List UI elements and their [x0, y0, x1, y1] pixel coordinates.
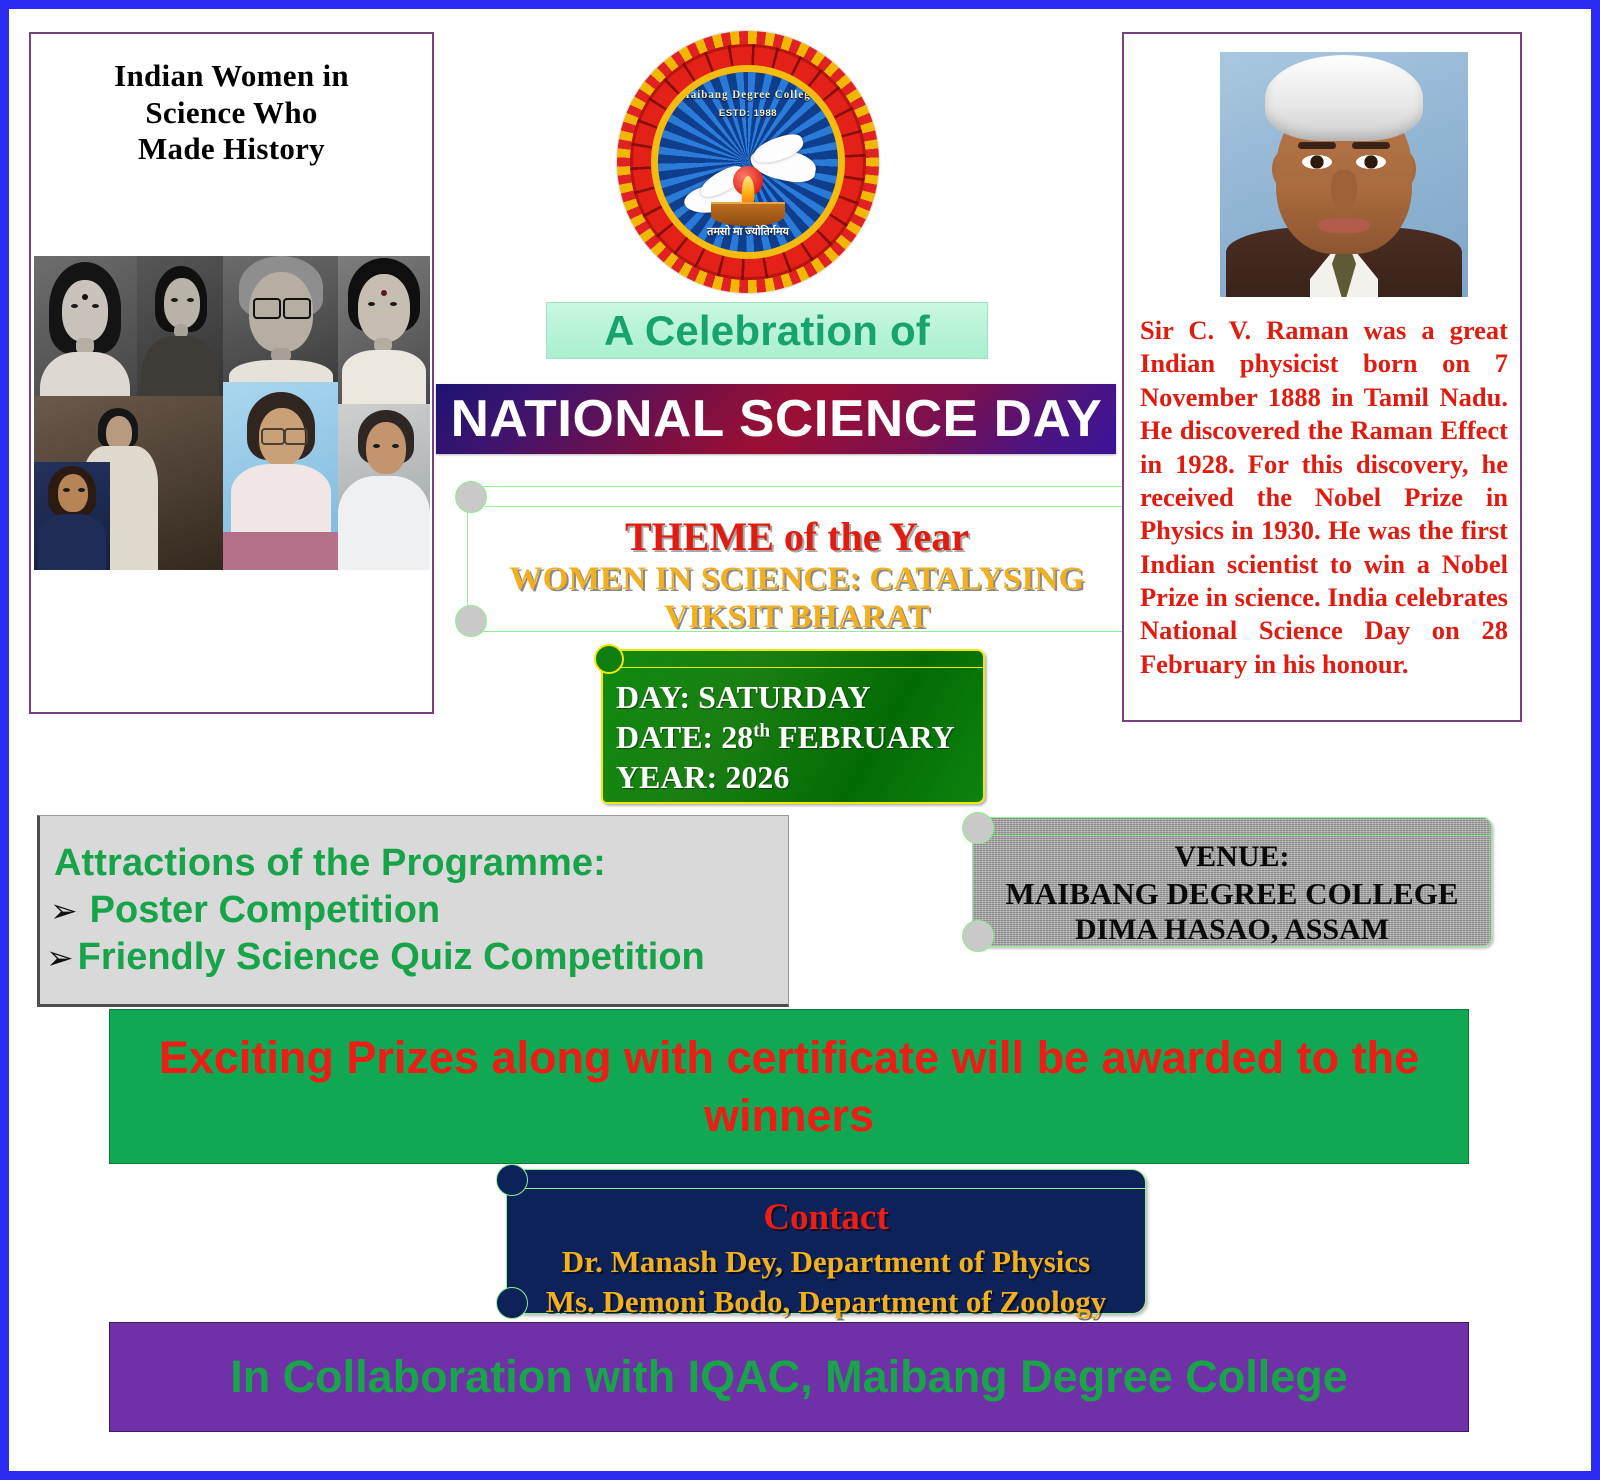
contact-box-inner-rule [522, 1188, 1145, 1189]
collaboration-text: In Collaboration with IQAC, Maibang Degr… [230, 1351, 1348, 1403]
main-title-text: NATIONAL SCIENCE DAY [450, 389, 1102, 449]
raman-mouth [1318, 218, 1370, 233]
event-day-label: DAY: SATURDAY [616, 679, 871, 716]
contact-heading: Contact [507, 1196, 1145, 1239]
event-date-prefix: DATE: 28 [616, 719, 753, 755]
cv-raman-biography-text: Sir C. V. Raman was a great Indian physi… [1140, 314, 1508, 681]
logo-established-year: ESTD: 1988 [658, 108, 838, 119]
attraction-item-poster-competition: ➢ Poster Competition [46, 887, 778, 934]
prizes-banner: Exciting Prizes along with certificate w… [109, 1009, 1469, 1164]
attractions-box: Attractions of the Programme: ➢ Poster C… [37, 815, 789, 1007]
raman-eye-left [1302, 155, 1332, 169]
event-date-label: DATE: 28th FEBRUARY [616, 719, 955, 756]
theme-of-the-year-box: THEME of the Year WOMEN IN SCIENCE: CATA… [467, 486, 1127, 632]
arrow-bullet-icon: ➢ [46, 941, 74, 974]
event-year-label: YEAR: 2026 [616, 759, 789, 796]
raman-eyebrow-left [1298, 142, 1336, 149]
college-logo: Maibang Degree College ESTD: 1988 तमसो म… [617, 31, 879, 293]
poster-canvas: Indian Women in Science Who Made History [0, 0, 1600, 1480]
fold-corner-icon-top-left [455, 481, 487, 513]
date-box-inner-rule [617, 667, 983, 668]
collage-photo-3 [223, 256, 338, 396]
logo-inner-disc: Maibang Degree College ESTD: 1988 तमसो म… [658, 72, 838, 252]
event-date-suffix: FEBRUARY [770, 719, 955, 755]
fold-corner-icon-date-box [594, 644, 624, 674]
celebration-subtitle-text: A Celebration of [604, 307, 930, 355]
venue-box-inner-rule [988, 835, 1491, 836]
women-scientists-collage-image [34, 256, 430, 570]
celebration-subtitle: A Celebration of [546, 302, 988, 359]
logo-motto: तमसो मा ज्योतिर्गमय [658, 224, 838, 239]
venue-line-1: MAIBANG DEGREE COLLEGE [973, 876, 1491, 912]
women-title-line-3: Made History [31, 131, 432, 168]
logo-college-name: Maibang Degree College [658, 89, 838, 102]
cv-raman-panel: Sir C. V. Raman was a great Indian physi… [1122, 32, 1522, 722]
cv-raman-portrait-image [1220, 52, 1468, 297]
event-date-box: DAY: SATURDAY DATE: 28th FEBRUARY YEAR: … [601, 649, 985, 804]
attraction-item-label: Friendly Science Quiz Competition [78, 934, 705, 981]
contact-person-1: Dr. Manash Dey, Department of Physics [507, 1244, 1145, 1280]
contact-person-2: Ms. Demoni Bodo, Department of Zoology [507, 1284, 1145, 1320]
attraction-item-quiz-competition: ➢ Friendly Science Quiz Competition [46, 934, 778, 981]
collage-photo-8 [338, 404, 430, 570]
theme-line-1: WOMEN IN SCIENCE: CATALYSING [468, 561, 1126, 598]
raman-turban [1265, 55, 1423, 141]
raman-eye-right [1356, 155, 1386, 169]
arrow-bullet-icon: ➢ [50, 894, 78, 927]
contact-box: Contact Dr. Manash Dey, Department of Ph… [506, 1169, 1146, 1314]
fold-corner-icon-contact-top-left [496, 1164, 528, 1196]
women-title-line-1: Indian Women in [31, 58, 432, 95]
women-panel-title: Indian Women in Science Who Made History [31, 58, 432, 168]
diya-lamp-icon [711, 202, 785, 226]
theme-line-2: VIKSIT BHARAT [468, 599, 1126, 636]
venue-line-2: DIMA HASAO, ASSAM [973, 913, 1491, 947]
collage-photo-7 [223, 382, 338, 570]
event-date-superscript: th [753, 720, 770, 741]
prizes-text: Exciting Prizes along with certificate w… [140, 1029, 1438, 1144]
theme-box-inner-rule [485, 506, 1126, 507]
venue-box: VENUE: MAIBANG DEGREE COLLEGE DIMA HASAO… [972, 817, 1492, 947]
collage-photo-6 [34, 462, 110, 570]
glasses-icon [253, 298, 281, 319]
main-title-banner: NATIONAL SCIENCE DAY [436, 384, 1116, 454]
women-title-line-2: Science Who [31, 95, 432, 132]
collaboration-banner: In Collaboration with IQAC, Maibang Degr… [109, 1322, 1469, 1432]
raman-nose [1331, 170, 1357, 210]
attractions-heading: Attractions of the Programme: [54, 842, 778, 885]
raman-eyebrow-right [1352, 142, 1390, 149]
attraction-item-label: Poster Competition [90, 887, 440, 934]
indian-women-in-science-panel: Indian Women in Science Who Made History [29, 32, 434, 714]
theme-heading: THEME of the Year [468, 513, 1126, 560]
venue-label: VENUE: [973, 840, 1491, 874]
collage-photo-4 [338, 256, 430, 404]
